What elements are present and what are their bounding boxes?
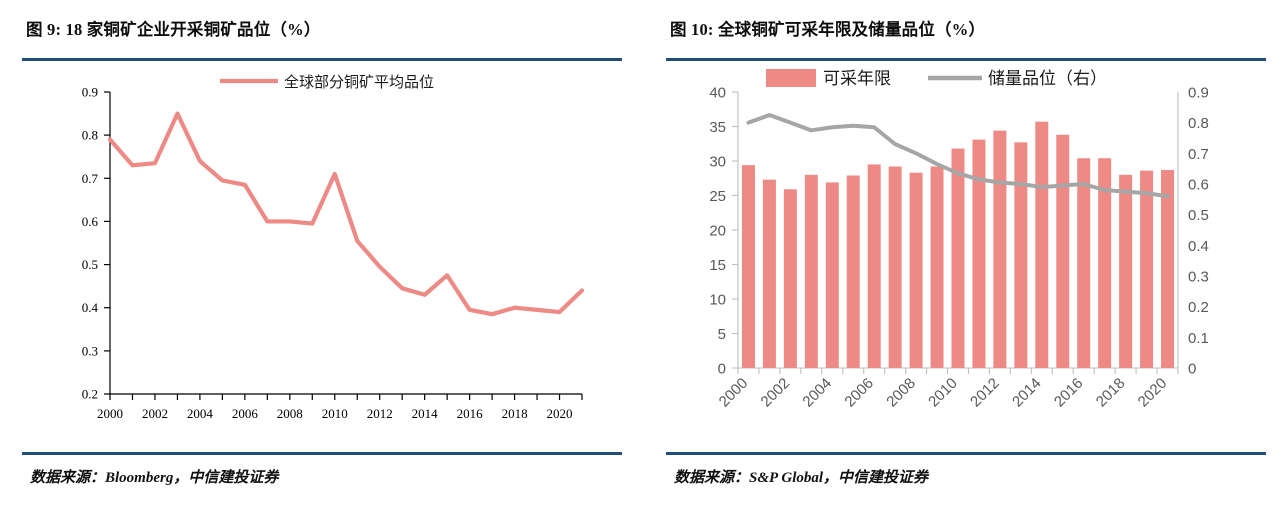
y-tick-label: 35 [709,119,726,136]
y2-tick-label: 0.5 [1188,207,1209,224]
figure-10-bottom-rule [666,452,1266,455]
y-tick-label: 0.7 [82,171,99,186]
y2-tick-label: 0 [1188,361,1196,378]
y2-tick-label: 0.1 [1188,330,1209,347]
x-axis-ticks [110,394,582,400]
x-tick-label: 2004 [187,406,214,421]
x-tick-label: 2002 [142,406,168,421]
bar [972,140,985,368]
x-tick-label: 2018 [1093,375,1129,411]
x-axis-tick-labels: 2000200220042006200820102012201420162018… [716,375,1171,411]
line-chart-svg: 0.9 0.8 0.7 0.6 0.5 0.4 0.3 0.2 20002002… [22,64,622,448]
x-tick-label: 2014 [412,406,439,421]
left-y-axis-ticks [732,92,738,368]
bar [910,173,923,368]
x-tick-label: 2000 [716,375,752,411]
x-tick-label: 2014 [1009,375,1045,411]
bar [763,180,776,368]
bar [868,164,881,368]
x-axis-tick-labels: 2000200220042006200820102012201420162018… [97,406,573,421]
figure-9-title: 图 9: 18 家铜矿企业开采铜矿品位（%） [26,16,321,40]
y-tick-label: 5 [718,326,726,343]
series-line-copper-grade [110,114,582,315]
y2-tick-label: 0.9 [1188,85,1209,102]
x-tick-label: 2012 [967,375,1003,411]
y2-tick-label: 0.2 [1188,299,1209,316]
right-y-axis-tick-labels: 0.90.80.70.60.50.40.30.20.10 [1188,85,1209,378]
y-tick-label: 20 [709,223,726,240]
combo-chart-svg: 4035302520151050 0.90.80.70.60.50.40.30.… [666,64,1266,448]
bar [1035,122,1048,368]
figure-9-source: 数据来源：Bloomberg，中信建投证券 [30,466,278,487]
figure-9-chart: 0.9 0.8 0.7 0.6 0.5 0.4 0.3 0.2 20002002… [22,64,622,448]
y2-tick-label: 0.7 [1188,146,1209,163]
x-tick-label: 2008 [883,375,919,411]
bar [1056,135,1069,368]
x-tick-label: 2010 [925,375,961,411]
y2-tick-label: 0.4 [1188,238,1209,255]
figure-9-bottom-rule [22,452,622,455]
y2-tick-label: 0.6 [1188,177,1209,194]
y2-tick-label: 0.8 [1188,115,1209,132]
x-axis-ticks [738,368,1178,374]
x-tick-label: 2006 [232,406,259,421]
bar [931,167,944,368]
figure-10-source: 数据来源：S&P Global，中信建投证券 [674,466,928,487]
x-tick-label: 2006 [841,375,877,411]
bar [1161,170,1174,368]
bar [847,175,860,368]
bar [742,165,755,368]
y-tick-label: 0.5 [82,257,98,272]
left-y-axis-tick-labels: 4035302520151050 [709,85,726,378]
bar [826,182,839,368]
y-tick-label: 0.8 [82,128,98,143]
y-tick-label: 0.6 [82,214,99,229]
y-tick-label: 0.3 [82,343,98,358]
x-tick-label: 2016 [1051,375,1087,411]
bar [952,149,965,368]
y2-tick-label: 0.3 [1188,269,1209,286]
figure-10-chart: 4035302520151050 0.90.80.70.60.50.40.30.… [666,64,1266,448]
bar [1077,158,1090,368]
y-tick-label: 0 [718,361,726,378]
x-tick-label: 2002 [758,375,794,411]
y-axis-ticks [104,92,110,394]
x-tick-label: 2004 [799,375,835,411]
x-tick-label: 2020 [547,406,573,421]
bar-series-reserve-life [742,122,1174,368]
x-tick-label: 2018 [502,406,528,421]
figure-panel-9: 图 9: 18 家铜矿企业开采铜矿品位（%） 0.9 [0,0,644,506]
y-tick-label: 25 [709,188,726,205]
y-tick-label: 30 [709,154,726,171]
legend: 可采年限 储量品位（右） [766,69,1107,88]
y-tick-label: 0.2 [82,387,98,402]
figure-10-top-rule [666,58,1266,61]
legend-label-1: 储量品位（右） [988,69,1107,88]
legend-swatch-bar [766,69,816,87]
y-tick-label: 0.9 [82,85,98,100]
bar [784,189,797,368]
x-tick-label: 2016 [457,406,484,421]
bar [889,167,902,368]
y-tick-label: 15 [709,257,726,274]
bar [1014,142,1027,368]
figure-10-title: 图 10: 全球铜矿可采年限及储量品位（%） [670,16,985,40]
x-tick-label: 2012 [367,406,393,421]
legend-label-0: 可采年限 [823,69,891,88]
bar [1140,171,1153,368]
y-tick-label: 0.4 [82,300,99,315]
legend: 全球部分铜矿平均品位 [220,73,434,91]
figure-panel-10: 图 10: 全球铜矿可采年限及储量品位（%） 4035302520151050 … [644,0,1288,506]
x-tick-label: 2020 [1135,375,1171,411]
bar [805,175,818,368]
y-tick-label: 40 [709,85,726,102]
x-tick-label: 2010 [322,406,348,421]
figure-9-top-rule [22,58,622,61]
figures-page: 图 9: 18 家铜矿企业开采铜矿品位（%） 0.9 [0,0,1288,506]
y-tick-label: 10 [709,292,726,309]
x-tick-label: 2008 [277,406,303,421]
legend-label-0: 全球部分铜矿平均品位 [284,73,434,91]
x-tick-label: 2000 [97,406,123,421]
bar [993,131,1006,368]
bar [1119,175,1132,368]
